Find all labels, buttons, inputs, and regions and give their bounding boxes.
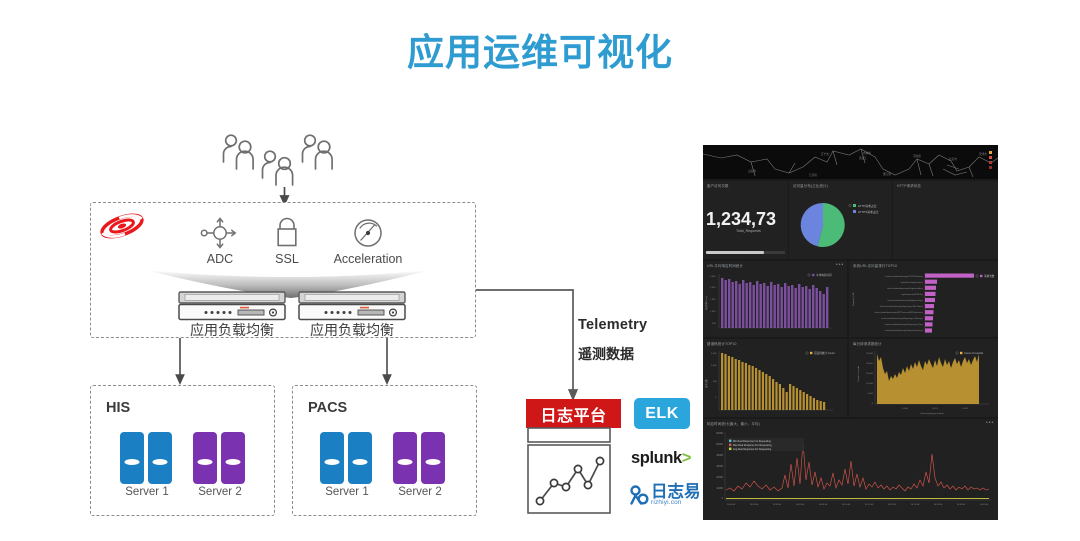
svg-text:5,000: 5,000 bbox=[868, 393, 874, 395]
svg-text:北京市: 北京市 bbox=[949, 157, 957, 161]
top-url-title: 系统URL访问量排行TOP10 bbox=[853, 263, 897, 268]
acceleration-label: Acceleration bbox=[325, 252, 411, 266]
svg-text:河北省: 河北省 bbox=[913, 154, 921, 158]
svg-text:20,000: 20,000 bbox=[866, 363, 873, 365]
svg-text:Count of records: Count of records bbox=[857, 365, 860, 382]
svg-text:山东省: 山东省 bbox=[748, 169, 756, 173]
log-platform-badge[interactable]: 日志平台 bbox=[526, 399, 621, 428]
elk-badge[interactable]: ELK bbox=[634, 398, 690, 429]
total-requests-panel[interactable]: 客户访问次数 1,234,73 Total_Requests bbox=[703, 181, 788, 259]
panel-menu-icon[interactable]: ••• bbox=[836, 262, 844, 268]
svg-text:14:05:00: 14:05:00 bbox=[819, 504, 828, 506]
total-requests-value: 1,234,73 bbox=[706, 209, 776, 230]
svg-text:2,000: 2,000 bbox=[710, 287, 716, 289]
svg-text:14:00:00: 14:00:00 bbox=[796, 504, 805, 506]
adc-label: ADC bbox=[195, 252, 245, 266]
svg-text:14:40:00: 14:40:00 bbox=[980, 504, 989, 506]
telemetry-connector bbox=[470, 268, 590, 403]
svg-text:0: 0 bbox=[715, 397, 717, 399]
svg-text:Avg Real Response For Requesti: Avg Real Response For Requesting bbox=[733, 448, 772, 451]
svg-text:浙江省: 浙江省 bbox=[883, 172, 891, 176]
url-column-title: URL平均响应时间统计 bbox=[707, 263, 743, 268]
error-code-title: 错误码统计TOP10 bbox=[707, 341, 737, 346]
line-chart-report-icon bbox=[526, 427, 612, 520]
svg-text:14:00: 14:00 bbox=[902, 408, 908, 410]
svg-text:辽宁省: 辽宁省 bbox=[821, 152, 829, 156]
pacs-title: PACS bbox=[308, 400, 347, 416]
svg-text:13:50:00: 13:50:00 bbox=[750, 504, 759, 506]
svg-text:15,000: 15,000 bbox=[866, 373, 873, 375]
requests-per-minute-area-chart: 25,00020,000 15,00010,000 5,0000 Count o… bbox=[849, 348, 998, 416]
response-time-line-panel[interactable]: 响应时间统计(最大、最小、平均) ••• 6000050000 40000300… bbox=[703, 419, 998, 520]
rizhiyi-wordmark: 日志易 bbox=[651, 484, 701, 499]
svg-text:20000: 20000 bbox=[716, 476, 723, 479]
svg-text:/static/vendor/bootstrap/js/lo: /static/vendor/bootstrap/js/login/config… bbox=[888, 299, 923, 302]
svg-text:江苏省: 江苏省 bbox=[809, 173, 817, 177]
response-time-line-chart: 6000050000 4000030000 2000010000 0 13:45… bbox=[703, 428, 998, 518]
svg-text:14:25:00: 14:25:00 bbox=[911, 504, 920, 506]
svg-text:天津市: 天津市 bbox=[979, 152, 987, 156]
svg-text:14:35:00: 14:35:00 bbox=[957, 504, 966, 506]
rizhiyi-logo: 日志易 rizhiyi.con bbox=[629, 484, 701, 506]
page-title: 应用运维可视化 bbox=[0, 22, 1080, 76]
radware-swirl-logo bbox=[97, 208, 147, 249]
geo-map-panel[interactable]: 山东省江苏省 辽宁省吉林省 黑龙江河北省 北京市天津市 浙江省 bbox=[703, 145, 998, 179]
his-server-2-label: Server 2 bbox=[190, 486, 250, 498]
svg-text:14:30: 14:30 bbox=[962, 408, 968, 410]
svg-text:HTTPS请求占比: HTTPS请求占比 bbox=[858, 210, 879, 214]
rizhiyi-mark-icon bbox=[629, 485, 649, 505]
svg-text:黑龙江: 黑龙江 bbox=[859, 156, 867, 160]
svg-text:14:15: 14:15 bbox=[932, 408, 938, 410]
splunk-wordmark: splunk bbox=[631, 449, 682, 467]
svg-text:Max Real Response For Requesti: Max Real Response For Requesting bbox=[733, 444, 772, 447]
svg-text:0: 0 bbox=[722, 497, 724, 500]
adc-icon bbox=[200, 216, 240, 255]
his-server-2-icon bbox=[193, 432, 247, 489]
response-code-bar-panel[interactable]: 错误码统计TOP10 请求次数 1,5001,000 5000 bbox=[703, 339, 847, 417]
pacs-server-2-icon bbox=[393, 432, 447, 489]
geo-map-graphic: 山东省江苏省 辽宁省吉林省 黑龙江河北省 北京市天津市 浙江省 bbox=[703, 145, 998, 179]
svg-text:500: 500 bbox=[712, 323, 716, 325]
svg-text:错误码统计 Count: 错误码统计 Count bbox=[814, 351, 835, 355]
pacs-server-1-icon bbox=[320, 432, 374, 489]
ssl-lock-icon bbox=[272, 216, 302, 255]
svg-text:Request_URL: Request_URL bbox=[852, 291, 855, 306]
blank-panel[interactable]: HTTP请求状态 bbox=[893, 181, 998, 259]
svg-text:吉林省: 吉林省 bbox=[863, 151, 871, 155]
ssl-label: SSL bbox=[262, 252, 312, 266]
splunk-logo: splunk> bbox=[631, 449, 691, 468]
svg-text:50000: 50000 bbox=[716, 443, 723, 446]
request-ratio-pie-chart: HTTP请求占比 HTTPS请求占比 bbox=[789, 187, 892, 259]
his-server-1-icon bbox=[120, 432, 174, 489]
svg-text:/static/vendor/bootstrap/js/PO: /static/vendor/bootstrap/js/POST-/Router… bbox=[885, 275, 923, 278]
svg-text:平均响应时间: 平均响应时间 bbox=[816, 273, 832, 277]
svg-text:/static/vendor/bootstrap/js/RP: /static/vendor/bootstrap/js/RPC/service/… bbox=[874, 311, 923, 314]
splunk-chevron-icon: > bbox=[682, 449, 691, 467]
load-balancer-2-label: 应用负载均衡 bbox=[292, 320, 412, 340]
svg-text:@timestamp per minute: @timestamp per minute bbox=[920, 412, 944, 415]
svg-text:13:45:00: 13:45:00 bbox=[727, 504, 736, 506]
svg-text:60000: 60000 bbox=[716, 432, 723, 435]
svg-text:1,000: 1,000 bbox=[711, 365, 717, 367]
appliance-to-app-connectors bbox=[140, 338, 480, 388]
svg-text:30000: 30000 bbox=[716, 465, 723, 468]
svg-text:Count of records: Count of records bbox=[964, 351, 984, 355]
his-server-1-label: Server 1 bbox=[117, 486, 177, 498]
svg-text:请求次数: 请求次数 bbox=[704, 378, 708, 388]
svg-text:/static/vendor/bootstrap/js/lo: /static/vendor/bootstrap/js/login/app.js… bbox=[885, 323, 923, 326]
svg-text:14:10:00: 14:10:00 bbox=[842, 504, 851, 506]
blank-panel-title: HTTP请求状态 bbox=[897, 183, 921, 188]
svg-text:1,000: 1,000 bbox=[710, 311, 716, 313]
end-users-group bbox=[218, 132, 348, 209]
total-requests-title: 客户访问次数 bbox=[707, 183, 729, 188]
top-url-bar-chart: Request_URL /static/vendor/bootstrap/js/… bbox=[849, 270, 998, 336]
request-ratio-pie-panel[interactable]: 访问量分布(占比统计) HTTP请求占比 HTTPS请求占比 bbox=[789, 181, 892, 259]
telemetry-label-en: Telemetry bbox=[578, 317, 647, 333]
slide-canvas: 应用运维可视化 bbox=[0, 0, 1080, 541]
his-title: HIS bbox=[106, 400, 130, 416]
svg-text:0: 0 bbox=[872, 403, 874, 405]
panel-scrollbar[interactable] bbox=[706, 251, 785, 254]
svg-text:14:15:00: 14:15:00 bbox=[865, 504, 874, 506]
svg-text:10000: 10000 bbox=[716, 487, 723, 490]
svg-text:1,500: 1,500 bbox=[711, 353, 717, 355]
requests-per-minute-area-panel[interactable]: 每分钟请求数统计 25,00020,000 15,00010,000 5,000… bbox=[849, 339, 998, 417]
svg-text:10,000: 10,000 bbox=[866, 383, 873, 385]
response-panel-menu-icon[interactable]: ••• bbox=[986, 420, 994, 426]
svg-text:/ng/browser/js/HTML5.js: /ng/browser/js/HTML5.js bbox=[901, 294, 923, 296]
dashboard-screenshot[interactable]: 山东省江苏省 辽宁省吉林省 黑龙江河北省 北京市天津市 浙江省 客户访问次数 1… bbox=[703, 145, 998, 520]
svg-text:13:55:00: 13:55:00 bbox=[773, 504, 782, 506]
svg-text:500: 500 bbox=[713, 381, 717, 383]
pacs-server-2-label: Server 2 bbox=[390, 486, 450, 498]
svg-text:/static/vendor/bootstrap/js/lo: /static/vendor/bootstrap/js/login/res/in… bbox=[885, 329, 923, 332]
users-icon bbox=[218, 132, 348, 204]
response-code-bar-chart: 请求次数 1,5001,000 5000 bbox=[703, 348, 847, 416]
response-time-title: 响应时间统计(最大、最小、平均) bbox=[707, 421, 760, 426]
rpm-title: 每分钟请求数统计 bbox=[853, 341, 882, 346]
svg-text:响应时间 (ms): 响应时间 (ms) bbox=[704, 296, 708, 310]
total-requests-sublabel: Total_Requests bbox=[736, 229, 761, 233]
svg-text:HTTP请求占比: HTTP请求占比 bbox=[858, 204, 877, 208]
svg-text:14:20:00: 14:20:00 bbox=[888, 504, 897, 506]
acceleration-gauge-icon bbox=[350, 216, 386, 255]
svg-text:25,000: 25,000 bbox=[866, 353, 873, 355]
svg-text:请求次数: 请求次数 bbox=[984, 274, 995, 278]
svg-text:/ng/browser/login/index.js: /ng/browser/login/index.js bbox=[900, 282, 923, 284]
svg-text:/static/vendor/bootstrap/js/lo: /static/vendor/bootstrap/js/login/mobile… bbox=[887, 287, 923, 290]
load-balancer-1-label: 应用负载均衡 bbox=[172, 320, 292, 340]
svg-text:14:30:00: 14:30:00 bbox=[934, 504, 943, 506]
svg-text:3,000: 3,000 bbox=[710, 276, 716, 278]
svg-text:40000: 40000 bbox=[716, 454, 723, 457]
telemetry-label-cn: 遥测数据 bbox=[578, 344, 634, 364]
pacs-server-1-label: Server 1 bbox=[317, 486, 377, 498]
svg-text:1,500: 1,500 bbox=[710, 299, 716, 301]
top-url-bar-panel[interactable]: 系统URL访问量排行TOP10 Request_URL /static/vend… bbox=[849, 261, 998, 337]
url-hits-column-chart: 3,0002,000 1,5001,000 500 响应时间 (ms) bbox=[703, 270, 847, 336]
svg-text:/static/vendor/bootstrap/js/lo: /static/vendor/bootstrap/js/login/api.js… bbox=[880, 305, 923, 308]
url-hits-column-panel[interactable]: URL平均响应时间统计 ••• 3,0002,000 1,5001,000 50… bbox=[703, 261, 847, 337]
svg-text:Min Real Response For Requesti: Min Real Response For Requesting bbox=[733, 440, 772, 443]
svg-text:/static/vendor/bootstrap/js/lo: /static/vendor/bootstrap/js/login/app.js… bbox=[881, 317, 923, 320]
